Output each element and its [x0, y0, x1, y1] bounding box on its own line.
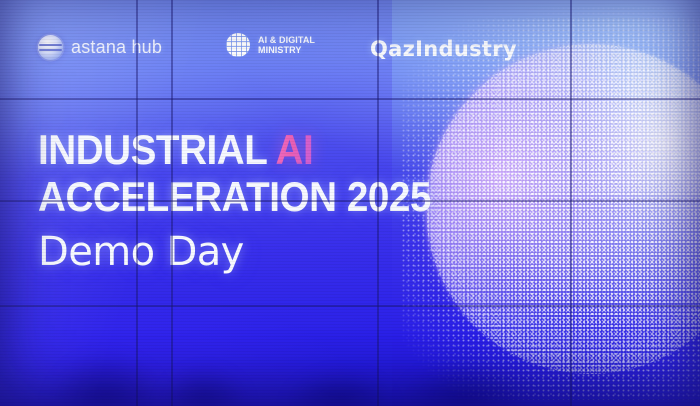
particle-sphere-graphic	[426, 44, 700, 374]
audience-silhouette	[42, 318, 172, 406]
logo-ministry-line2: MINISTRY	[258, 45, 301, 55]
logo-astana-hub-label: astana hub	[71, 37, 162, 58]
logo-astana-hub: astana hub	[38, 35, 162, 60]
logo-ai-digital-ministry: AI & DIGITAL MINISTRY	[226, 33, 315, 57]
partner-logo-row: astana hub AI & DIGITAL MINISTRY QazIndu…	[38, 33, 560, 73]
led-video-wall-screen: astana hub AI & DIGITAL MINISTRY QazIndu…	[0, 0, 700, 406]
audience-silhouette	[392, 330, 542, 406]
audience-silhouette	[154, 342, 254, 406]
headline-line-1: INDUSTRIAL AI	[38, 126, 431, 173]
sphere-logo-icon	[38, 35, 63, 60]
headline-line-1-white: INDUSTRIAL	[38, 126, 267, 173]
slide-subheadline: Demo Day	[38, 229, 244, 275]
logo-qazindustry: QazIndustry	[370, 37, 517, 61]
slide-headline: INDUSTRIAL AI ACCELERATION 2025	[38, 126, 465, 220]
globe-grid-icon	[226, 33, 250, 57]
logo-qazindustry-label: QazIndustry	[370, 37, 517, 61]
logo-ministry-line1: AI & DIGITAL	[258, 35, 315, 45]
logo-ministry-label: AI & DIGITAL MINISTRY	[258, 35, 315, 56]
headline-line-2: ACCELERATION 2025	[38, 173, 431, 220]
headline-accent-ai: AI	[276, 126, 314, 173]
audience-silhouette	[280, 348, 400, 406]
